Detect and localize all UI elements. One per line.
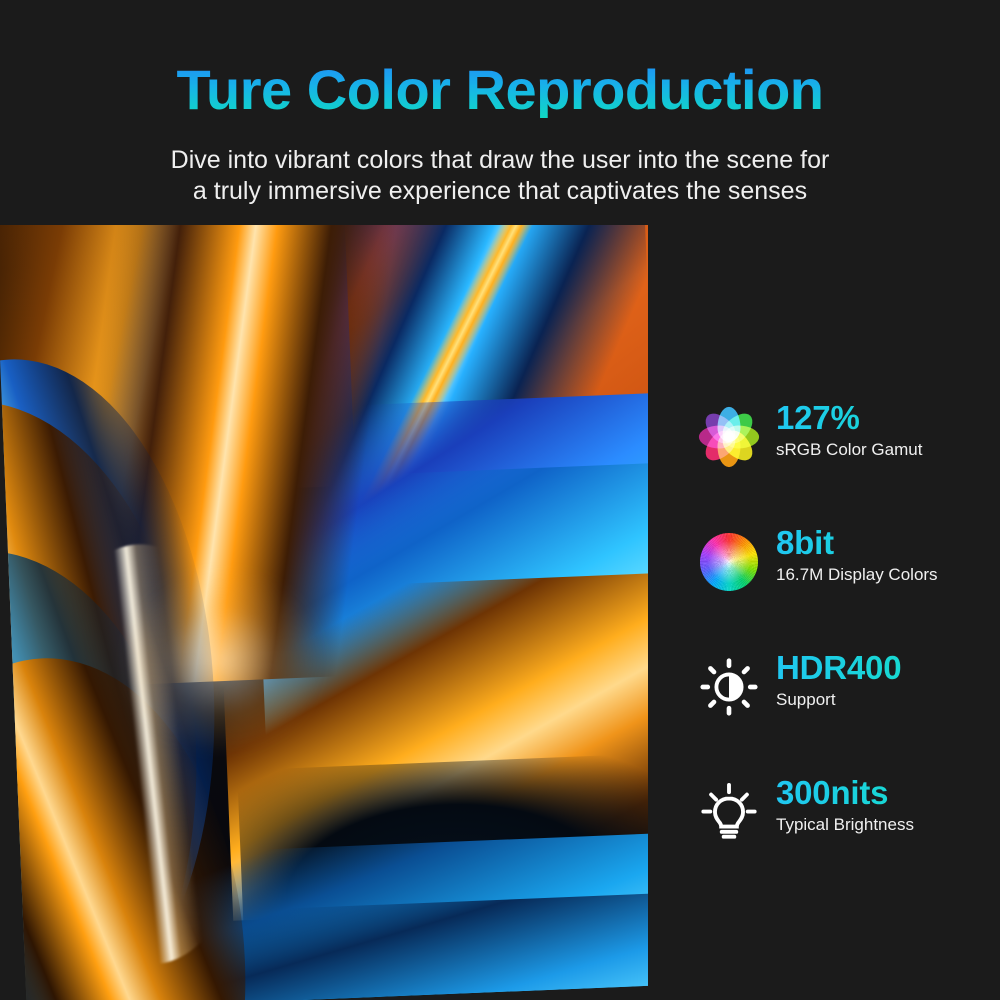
feature-item-brightness: 300nits Typical Brightness xyxy=(690,773,1000,898)
color-wheel-icon xyxy=(698,531,760,593)
subtitle-line-1: Dive into vibrant colors that draw the u… xyxy=(171,146,830,174)
monitor-panel xyxy=(0,185,682,1000)
color-flower-icon xyxy=(698,406,760,468)
color-wheel-rays xyxy=(700,533,758,591)
feature-label: Support xyxy=(776,689,1000,711)
feature-label: 16.7M Display Colors xyxy=(776,564,1000,586)
feature-item-srgb: 127% sRGB Color Gamut xyxy=(690,398,1000,523)
feature-value: HDR400 xyxy=(776,648,1000,688)
header: Ture Color Reproduction Dive into vibran… xyxy=(0,0,1000,225)
feature-value: 8bit xyxy=(776,523,1000,563)
light-bulb-icon xyxy=(698,781,760,843)
light-bulb-glyph xyxy=(698,781,760,843)
brightness-sun-icon xyxy=(698,656,760,718)
subtitle-line-2: a truly immersive experience that captiv… xyxy=(0,176,1000,207)
screen-artwork xyxy=(0,193,682,1000)
feature-text-bitdepth: 8bit 16.7M Display Colors xyxy=(776,523,1000,586)
feature-label: Typical Brightness xyxy=(776,814,1000,836)
feature-text-brightness: 300nits Typical Brightness xyxy=(776,773,1000,836)
monitor-screen xyxy=(0,193,682,1000)
feature-value: 300nits xyxy=(776,773,1000,813)
feature-text-hdr: HDR400 Support xyxy=(776,648,1000,711)
page-title: Ture Color Reproduction xyxy=(0,62,1000,118)
feature-list: 127% sRGB Color Gamut 8bit 16.7M Display… xyxy=(690,398,1000,898)
feature-item-bitdepth: 8bit 16.7M Display Colors xyxy=(690,523,1000,648)
brightness-sun-glyph xyxy=(698,656,760,718)
page-subtitle: Dive into vibrant colors that draw the u… xyxy=(0,145,1000,207)
feature-label: sRGB Color Gamut xyxy=(776,439,1000,461)
feature-text-srgb: 127% sRGB Color Gamut xyxy=(776,398,1000,461)
feature-item-hdr: HDR400 Support xyxy=(690,648,1000,773)
feature-value: 127% xyxy=(776,398,1000,438)
promo-banner: Ture Color Reproduction Dive into vibran… xyxy=(0,0,1000,1000)
monitor-device xyxy=(0,212,654,1000)
